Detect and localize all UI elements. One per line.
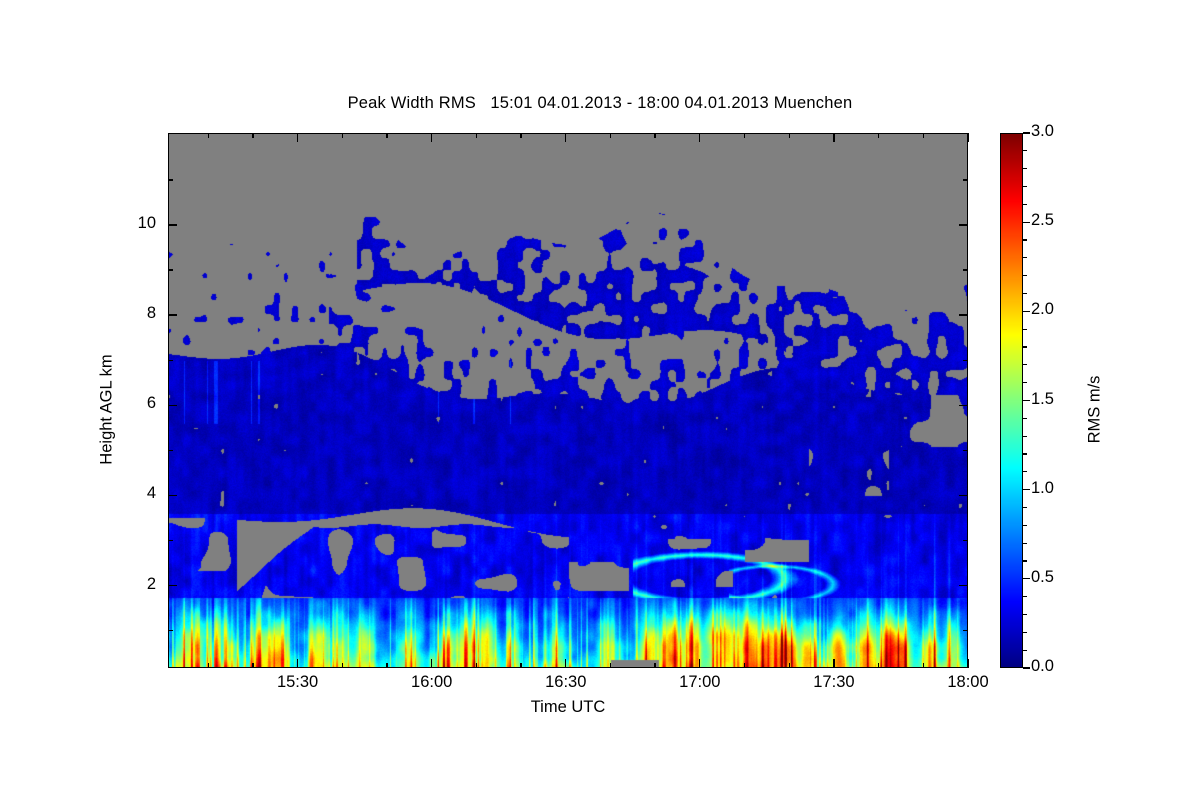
x-tick-label: 16:00 [411, 673, 452, 692]
y-tick-major-right [959, 585, 968, 586]
colorbar-tick-minor [1023, 239, 1027, 240]
colorbar-tick-minor [1023, 364, 1027, 365]
x-tick-major-top [699, 133, 700, 142]
colorbar-tick-minor [1023, 204, 1027, 205]
x-tick-major [967, 659, 968, 668]
x-axis-title: Time UTC [168, 698, 968, 717]
colorbar-tick-minor [1023, 329, 1027, 330]
y-tick-minor-right [963, 179, 968, 180]
colorbar-tick-minor [1023, 471, 1027, 472]
x-tick-minor-top [878, 133, 879, 138]
y-tick-minor [168, 269, 173, 270]
x-tick-minor-top [252, 133, 253, 138]
y-tick-minor-right [963, 360, 968, 361]
figure-canvas: Peak Width RMS 15:01 04.01.2013 - 18:00 … [0, 0, 1200, 800]
x-tick-label: 15:30 [277, 673, 318, 692]
x-tick-minor [878, 663, 879, 668]
x-tick-label: 18:00 [947, 673, 988, 692]
colorbar-tick-minor [1023, 453, 1027, 454]
x-tick-major [699, 659, 700, 668]
y-tick-major [168, 405, 177, 406]
x-tick-major-top [967, 133, 968, 142]
x-tick-major [431, 659, 432, 668]
x-tick-minor [476, 663, 477, 668]
colorbar-gradient [1001, 134, 1023, 668]
y-tick-minor [168, 540, 173, 541]
x-tick-major-top [565, 133, 566, 142]
colorbar-tick-minor [1023, 543, 1027, 544]
x-tick-minor-top [744, 133, 745, 138]
y-tick-major-right [959, 314, 968, 315]
colorbar-tick [1023, 132, 1030, 133]
colorbar-tick [1023, 667, 1030, 668]
x-tick-minor [208, 663, 209, 668]
y-tick-major [168, 224, 177, 225]
y-tick-major-right [959, 224, 968, 225]
y-tick-minor-right [963, 540, 968, 541]
y-tick-major-right [959, 495, 968, 496]
y-tick-major [168, 495, 177, 496]
x-tick-minor-top [654, 133, 655, 138]
x-tick-minor [923, 663, 924, 668]
colorbar-tick-minor [1023, 614, 1027, 615]
x-tick-major [297, 659, 298, 668]
colorbar-tick-minor [1023, 346, 1027, 347]
y-tick-minor-right [963, 450, 968, 451]
colorbar-tick-minor [1023, 507, 1027, 508]
x-tick-minor [610, 663, 611, 668]
x-tick-minor [789, 663, 790, 668]
colorbar-tick-minor [1023, 525, 1027, 526]
x-tick-minor-top [342, 133, 343, 138]
x-tick-minor [654, 663, 655, 668]
x-tick-minor-top [789, 133, 790, 138]
colorbar-tick [1023, 311, 1030, 312]
y-tick-major [168, 585, 177, 586]
y-tick-minor [168, 179, 173, 180]
x-tick-major-top [297, 133, 298, 142]
colorbar-tick-label: 2.0 [1031, 300, 1054, 319]
x-tick-minor [386, 663, 387, 668]
y-tick-major-right [959, 405, 968, 406]
colorbar-tick-minor [1023, 257, 1027, 258]
y-tick-minor-right [963, 630, 968, 631]
x-tick-minor [252, 663, 253, 668]
colorbar-tick-minor [1023, 168, 1027, 169]
colorbar-tick-minor [1023, 275, 1027, 276]
colorbar-tick [1023, 222, 1030, 223]
x-tick-major [833, 659, 834, 668]
x-tick-major-top [833, 133, 834, 142]
x-tick-minor-top [386, 133, 387, 138]
colorbar-tick-minor [1023, 650, 1027, 651]
colorbar-tick-label: 3.0 [1031, 122, 1054, 141]
colorbar-tick-minor [1023, 596, 1027, 597]
y-tick-label: 8 [110, 304, 156, 323]
x-tick-minor-top [610, 133, 611, 138]
x-tick-minor [744, 663, 745, 668]
x-tick-minor-top [476, 133, 477, 138]
colorbar-tick-label: 2.5 [1031, 211, 1054, 230]
colorbar-tick-minor [1023, 186, 1027, 187]
y-tick-major [168, 314, 177, 315]
heatmap-plot-area[interactable] [168, 133, 968, 668]
x-tick-minor-top [520, 133, 521, 138]
colorbar-tick-minor [1023, 436, 1027, 437]
colorbar-tick-label: 1.5 [1031, 390, 1054, 409]
x-tick-major-top [431, 133, 432, 142]
colorbar-tick-label: 0.5 [1031, 568, 1054, 587]
colorbar-tick-minor [1023, 560, 1027, 561]
colorbar-tick [1023, 578, 1030, 579]
colorbar-title: RMS m/s [1086, 300, 1105, 520]
y-tick-label: 10 [110, 214, 156, 233]
colorbar-tick-minor [1023, 382, 1027, 383]
colorbar-tick-minor [1023, 293, 1027, 294]
colorbar-tick-label: 1.0 [1031, 479, 1054, 498]
y-tick-minor-right [963, 269, 968, 270]
x-tick-minor-top [923, 133, 924, 138]
y-tick-minor [168, 450, 173, 451]
colorbar-tick [1023, 400, 1030, 401]
x-tick-minor [520, 663, 521, 668]
page-title: Peak Width RMS 15:01 04.01.2013 - 18:00 … [0, 94, 1200, 113]
x-tick-major [565, 659, 566, 668]
y-tick-label: 4 [110, 484, 156, 503]
y-tick-label: 6 [110, 394, 156, 413]
colorbar-tick-minor [1023, 150, 1027, 151]
x-tick-minor [342, 663, 343, 668]
y-tick-minor [168, 360, 173, 361]
y-tick-minor [168, 630, 173, 631]
x-tick-minor-top [208, 133, 209, 138]
colorbar-tick-minor [1023, 418, 1027, 419]
colorbar-tick-minor [1023, 632, 1027, 633]
x-tick-label: 16:30 [545, 673, 586, 692]
y-tick-label: 2 [110, 575, 156, 594]
heatmap-image [169, 134, 968, 668]
colorbar-tick [1023, 489, 1030, 490]
colorbar-tick-label: 0.0 [1031, 657, 1054, 676]
x-tick-label: 17:00 [679, 673, 720, 692]
x-tick-label: 17:30 [813, 673, 854, 692]
colorbar[interactable] [1000, 133, 1023, 668]
